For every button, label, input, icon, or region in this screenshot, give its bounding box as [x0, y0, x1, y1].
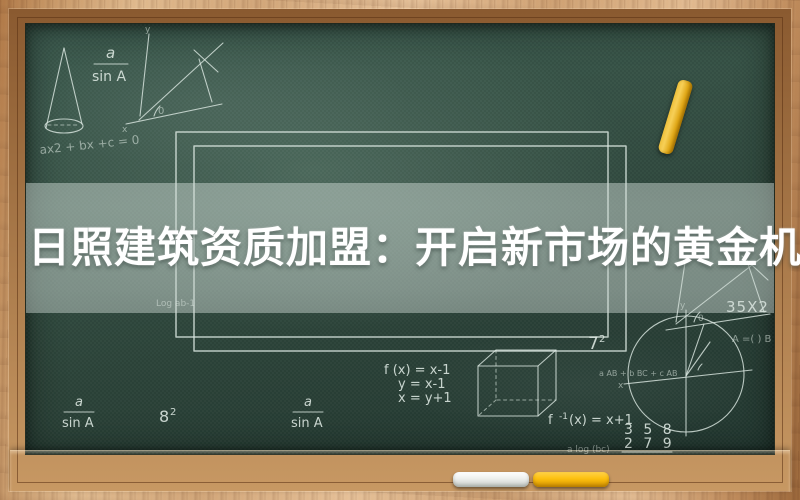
svg-text:8: 8 [159, 407, 169, 426]
svg-text:A =( ) B =( ) I =( ): A =( ) B =( ) I =( ) [732, 334, 774, 345]
svg-text:y = x-1: y = x-1 [398, 377, 446, 392]
chalkboard-surface: a sin A y x 0 ax2 + bx +c = [26, 24, 774, 454]
svg-text:x = y+1: x = y+1 [398, 391, 452, 406]
svg-text:a: a [75, 395, 83, 410]
svg-text:ax2 + bx +c = 0: ax2 + bx +c = 0 [39, 133, 140, 157]
cone-diagram [45, 48, 83, 133]
svg-text:sin A: sin A [92, 69, 127, 85]
svg-text:0: 0 [698, 314, 704, 324]
sine-rule-fraction-top: a sin A [92, 44, 128, 85]
svg-text:-1: -1 [559, 412, 568, 422]
cube-diagram-center [478, 350, 556, 416]
svg-text:a: a [106, 44, 115, 62]
svg-text:a: a [304, 395, 312, 410]
sine-rule-fraction-bottom-center: a sin A [291, 395, 323, 431]
svg-text:Log ab-1: Log ab-1 [156, 299, 195, 309]
svg-text:y: y [680, 301, 686, 311]
svg-text:y: y [145, 25, 151, 35]
svg-text:7: 7 [588, 334, 599, 354]
angle-diagram-top-right: 0 [666, 248, 774, 330]
svg-text:sin A: sin A [291, 416, 323, 431]
svg-text:0: 0 [158, 106, 164, 117]
svg-text:f: f [548, 413, 553, 428]
svg-text:a AB + b BC + c AB: a AB + b BC + c AB [599, 369, 677, 378]
sine-rule-fraction-bottom-left: a sin A [62, 395, 94, 431]
chalk-drawings: a sin A y x 0 ax2 + bx +c = [26, 24, 774, 454]
svg-text:x: x [618, 381, 624, 391]
function-equations: f (x) = x-1 y = x-1 x = y+1 [384, 363, 452, 406]
chalkboard-banner: a sin A y x 0 ax2 + bx +c = [0, 0, 800, 500]
eight-squared: 8 2 [159, 407, 176, 426]
svg-text:f (x) = x-1: f (x) = x-1 [384, 363, 450, 378]
svg-text:2: 2 [170, 407, 176, 418]
angle-axes-diagram: y x 0 [122, 25, 223, 135]
chalk-ledge [10, 450, 790, 492]
chalk-rectangle-frame [176, 132, 626, 351]
svg-text:sin A: sin A [62, 416, 94, 431]
svg-text:2: 2 [599, 334, 605, 345]
